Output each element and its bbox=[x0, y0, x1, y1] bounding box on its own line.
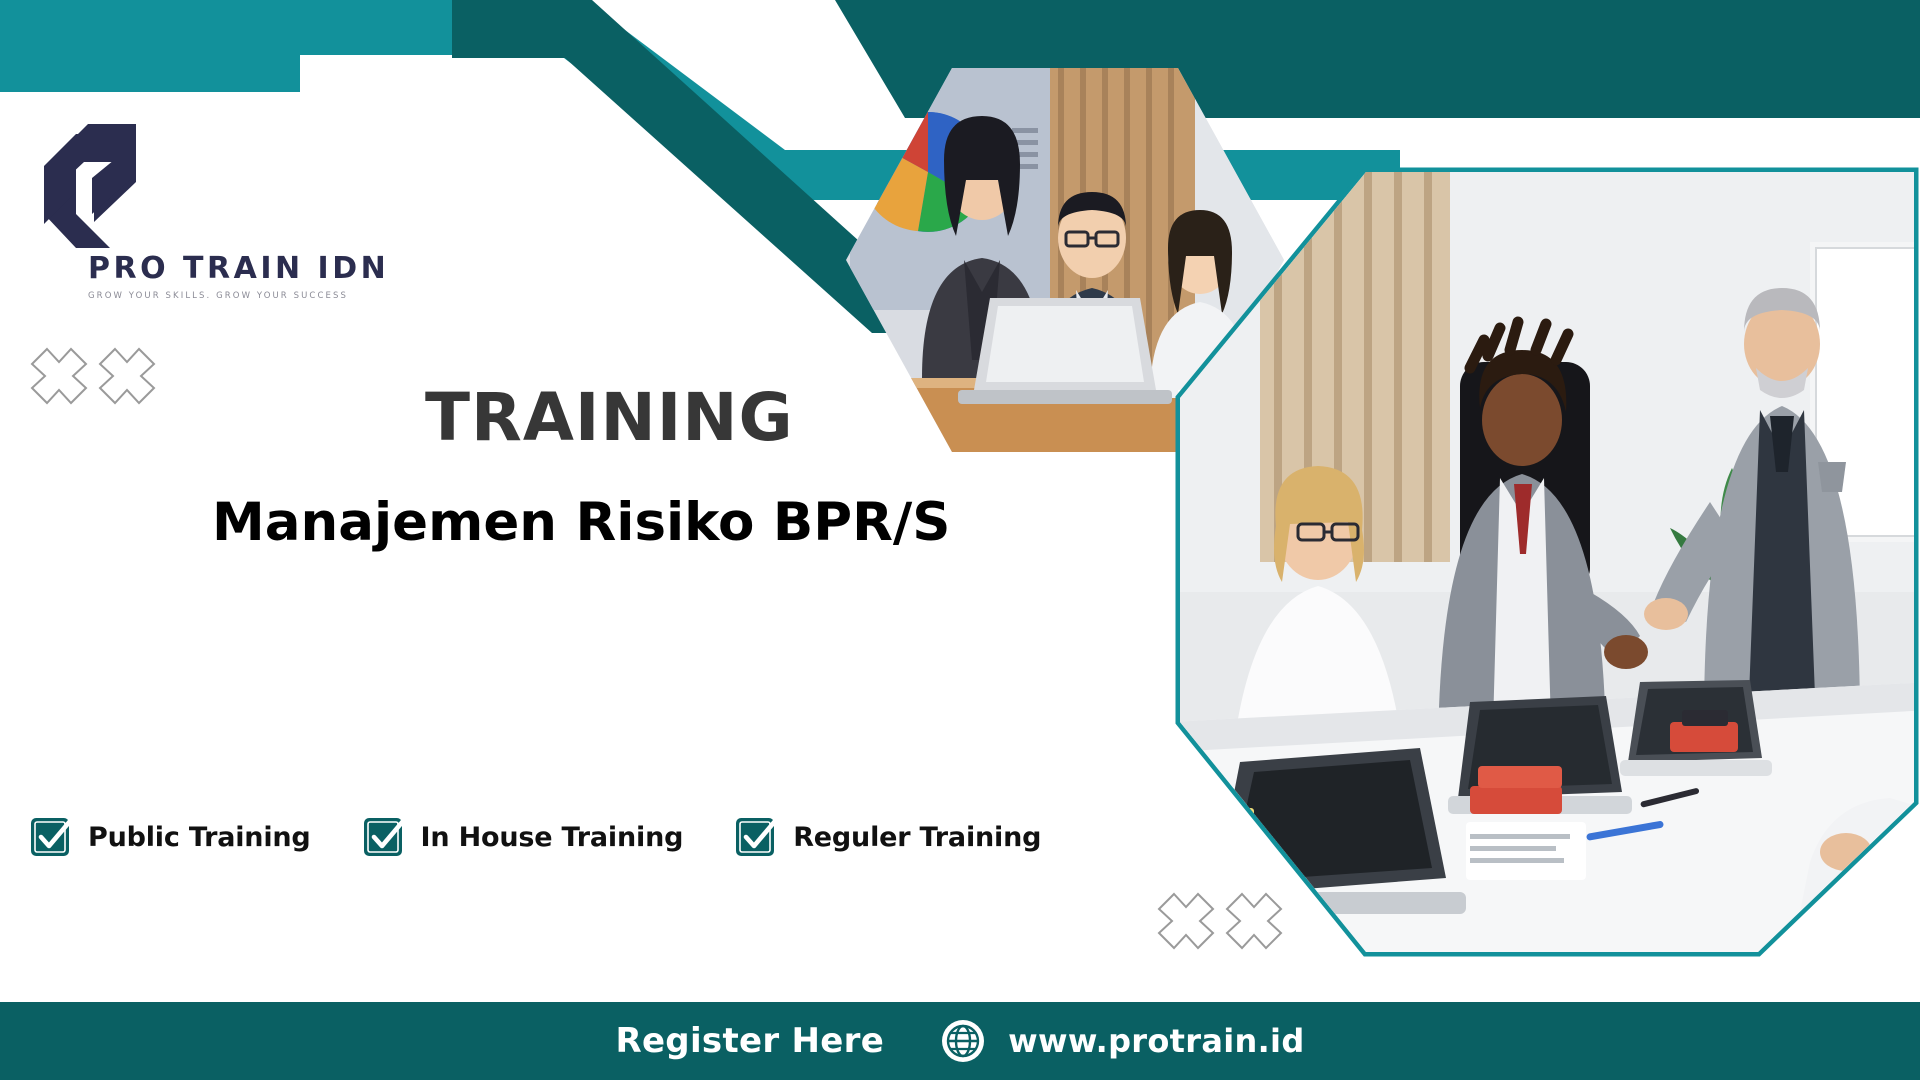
photo-office-discussion bbox=[1170, 162, 1920, 962]
website-url: www.protrain.id bbox=[1008, 1022, 1304, 1060]
checkbox-checked-icon[interactable] bbox=[735, 815, 779, 859]
arrow-chevron-logo-icon bbox=[36, 122, 144, 250]
feature-label: In House Training bbox=[421, 822, 684, 853]
globe-icon bbox=[940, 1018, 986, 1064]
brand-logo: PRO TRAIN IDN GROW YOUR SKILLS. GROW YOU… bbox=[36, 122, 416, 301]
x-cross-outline-icon bbox=[28, 345, 90, 407]
brand-name: PRO TRAIN IDN bbox=[88, 254, 416, 284]
brand-tagline: GROW YOUR SKILLS. GROW YOUR SUCCESS bbox=[88, 291, 416, 301]
feature-label: Public Training bbox=[88, 822, 311, 853]
x-cross-ornament-group-left bbox=[28, 345, 158, 407]
training-format-list: Public Training In House Training Regule… bbox=[30, 815, 1041, 859]
register-here-label[interactable]: Register Here bbox=[615, 1021, 884, 1061]
checkbox-checked-icon[interactable] bbox=[30, 815, 74, 859]
hero-eyebrow: TRAINING bbox=[425, 385, 794, 451]
training-promo-banner: PRO TRAIN IDN GROW YOUR SKILLS. GROW YOU… bbox=[0, 0, 1920, 1080]
hero-title: Manajemen Risiko BPR/S bbox=[212, 496, 950, 549]
x-cross-outline-icon bbox=[96, 345, 158, 407]
checkbox-checked-icon[interactable] bbox=[363, 815, 407, 859]
feature-item-public-training[interactable]: Public Training bbox=[30, 815, 311, 859]
website-link[interactable]: www.protrain.id bbox=[940, 1018, 1304, 1064]
feature-item-in-house-training[interactable]: In House Training bbox=[363, 815, 684, 859]
feature-label: Reguler Training bbox=[793, 822, 1041, 853]
footer-bar: Register Here www.protrain.id bbox=[0, 1002, 1920, 1080]
feature-item-reguler-training[interactable]: Reguler Training bbox=[735, 815, 1041, 859]
